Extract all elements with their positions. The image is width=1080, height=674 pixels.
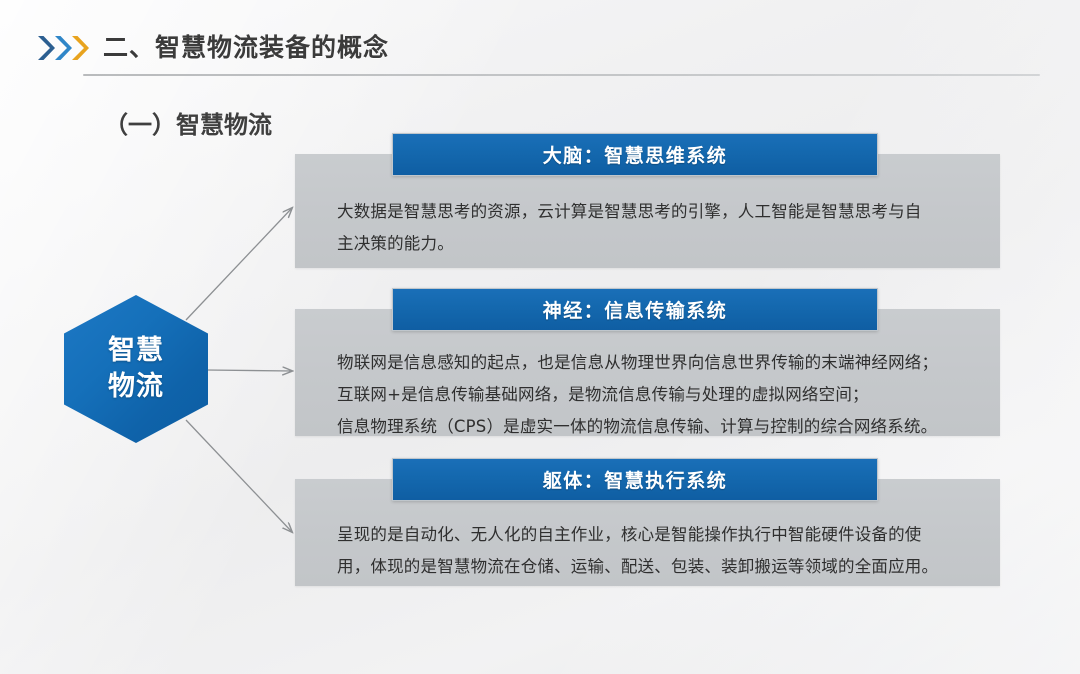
section-subtitle: （一）智慧物流 [104, 105, 272, 140]
card-body-text: 大数据是智慧思考的资源，云计算是智慧思考的引擎，人工智能是智慧思考与自 主决策的… [337, 196, 980, 260]
card-header-brain[interactable]: 大脑：智慧思维系统 [392, 133, 878, 176]
concept-card-brain[interactable]: 大数据是智慧思考的资源，云计算是智慧思考的引擎，人工智能是智慧思考与自 主决策的… [295, 133, 1000, 268]
header-divider [83, 74, 1040, 76]
hexagon-label-line-2: 物流 [108, 369, 164, 405]
concept-card-body[interactable]: 呈现的是自动化、无人化的自主作业，核心是智能操作执行中智能硬件设备的使 用，体现… [295, 458, 1000, 586]
card-text-line: 呈现的是自动化、无人化的自主作业，核心是智能操作执行中智能硬件设备的使 [337, 519, 980, 551]
card-text-line: 用，体现的是智慧物流在仓储、运输、配送、包装、装卸搬运等领域的全面应用。 [337, 551, 980, 583]
card-text-line: 物联网是信息感知的起点，也是信息从物理世界向信息世界传输的末端神经网络； [337, 347, 980, 379]
arrow-hex-to-card-2 [206, 370, 292, 371]
smart-logistics-hexagon[interactable]: 智慧 物流 [64, 295, 208, 443]
hexagon-label: 智慧 物流 [64, 295, 208, 443]
card-body-text: 呈现的是自动化、无人化的自主作业，核心是智能操作执行中智能硬件设备的使 用，体现… [337, 519, 980, 583]
chevron-right-icon-3 [70, 35, 89, 61]
concept-card-nerve[interactable]: 物联网是信息感知的起点，也是信息从物理世界向信息世界传输的末端神经网络； 互联网… [295, 288, 1000, 436]
card-text-line: 主决策的能力。 [337, 228, 980, 260]
page-title: 二、智慧物流装备的概念 [103, 28, 389, 64]
card-header-nerve[interactable]: 神经：信息传输系统 [392, 288, 878, 331]
slide-canvas: 二、智慧物流装备的概念 （一）智慧物流 智慧 物流 大数据是智慧思考的资源，云计… [0, 0, 1080, 674]
slide-header: 二、智慧物流装备的概念 [0, 22, 1080, 84]
card-header-body[interactable]: 躯体：智慧执行系统 [392, 458, 878, 501]
card-body-text: 物联网是信息感知的起点，也是信息从物理世界向信息世界传输的末端神经网络； 互联网… [337, 347, 980, 443]
card-text-line: 互联网+是信息传输基础网络，是物流信息传输与处理的虚拟网络空间； [337, 379, 980, 411]
chevron-group-icon [36, 35, 102, 61]
card-text-line: 信息物理系统（CPS）是虚实一体的物流信息传输、计算与控制的综合网络系统。 [337, 411, 980, 443]
hexagon-label-line-1: 智慧 [108, 333, 164, 369]
card-text-line: 大数据是智慧思考的资源，云计算是智慧思考的引擎，人工智能是智慧思考与自 [337, 196, 980, 228]
